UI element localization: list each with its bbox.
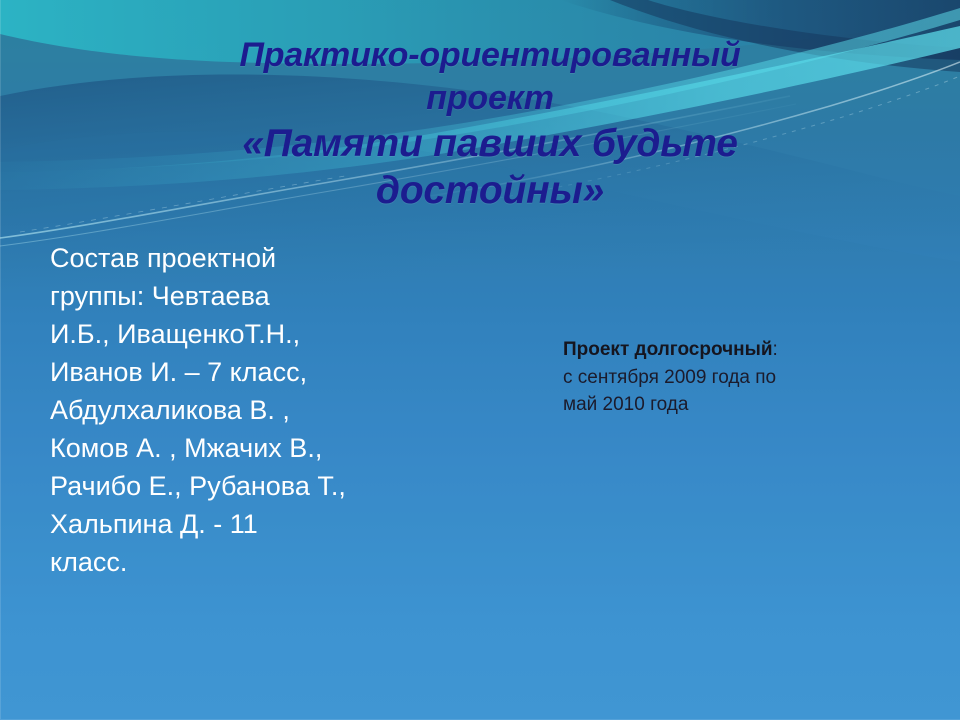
project-group-line: группы: Чевтаева (50, 277, 450, 315)
title-line-2: проект (180, 77, 800, 120)
slide-title: Практико-ориентированный проект «Памяти … (180, 34, 800, 214)
project-duration-heading-line: Проект долгосрочный: (563, 336, 933, 364)
project-group-line: Состав проектной (50, 239, 450, 277)
project-duration-text: Проект долгосрочный: с сентября 2009 год… (563, 336, 933, 419)
project-duration-colon: : (773, 339, 778, 360)
project-group-line: класс. (50, 543, 450, 581)
project-group-line: И.Б., ИващенкоТ.Н., (50, 315, 450, 353)
project-group-line: Абдулхаликова В. , (50, 391, 450, 429)
project-duration-line: май 2010 года (563, 391, 933, 419)
project-group-line: Рачибо Е., Рубанова Т., (50, 467, 450, 505)
project-group-text: Состав проектной группы: Чевтаева И.Б., … (50, 239, 450, 581)
title-line-4: достойны» (180, 167, 800, 214)
project-group-line: Иванов И. – 7 класс, (50, 353, 450, 391)
project-group-line: Хальпина Д. - 11 (50, 505, 450, 543)
title-line-1: Практико-ориентированный (180, 34, 800, 77)
presentation-slide: Практико-ориентированный проект «Памяти … (0, 0, 960, 720)
project-duration-line: с сентября 2009 года по (563, 364, 933, 392)
title-line-3: «Памяти павших будьте (180, 120, 800, 167)
project-group-line: Комов А. , Мжачих В., (50, 429, 450, 467)
project-duration-label: Проект долгосрочный (563, 339, 773, 360)
